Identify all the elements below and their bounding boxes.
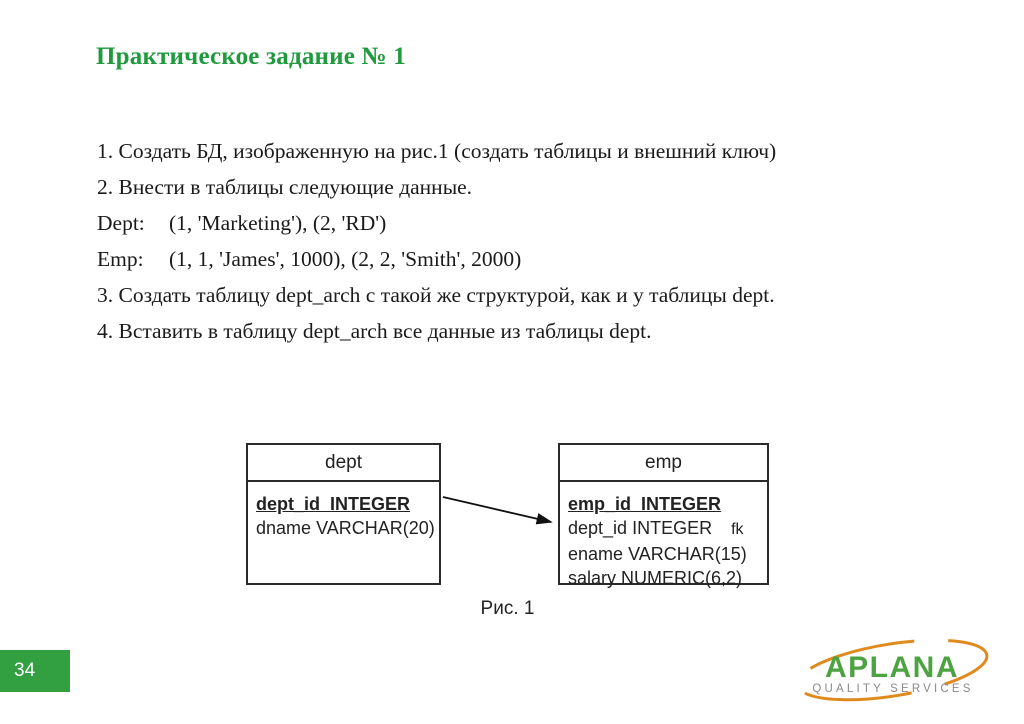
task-line-emp-data: Emp:(1, 1, 'James', 1000), (2, 2, 'Smith… <box>97 241 957 277</box>
er-field-emp-dept-id-fk-tag: fk <box>731 518 743 542</box>
task-1-text: 1. Создать БД, изображенную на рис.1 (со… <box>97 139 776 163</box>
emp-data-values: (1, 1, 'James', 1000), (2, 2, 'Smith', 2… <box>169 247 521 271</box>
er-field-dept-dname-name: dname <box>256 518 311 538</box>
figure-caption: Рис. 1 <box>246 598 769 620</box>
task-4-text: 4. Вставить в таблицу dept_arch все данн… <box>97 319 652 343</box>
task-list: 1. Создать БД, изображенную на рис.1 (со… <box>97 133 957 349</box>
task-line-1: 1. Создать БД, изображенную на рис.1 (со… <box>97 133 957 169</box>
er-field-emp-dept-id-type: INTEGER <box>632 518 712 538</box>
er-field-emp-salary-name: salary <box>568 568 616 588</box>
logo-wordmark: APLANA <box>825 651 959 684</box>
aplana-logo-graphic: APLANA QUALITY SERVICES <box>790 636 995 708</box>
er-field-emp-ename: ename VARCHAR(15) <box>568 542 767 566</box>
emp-data-label: Emp: <box>97 241 169 277</box>
er-field-emp-emp-id-name: emp_id <box>568 494 631 514</box>
er-field-emp-salary: salary NUMERIC(6,2) <box>568 566 767 590</box>
er-table-dept: dept dept_id INTEGER dname VARCHAR(20) <box>246 443 441 585</box>
page-number-badge: 34 <box>0 650 70 692</box>
er-field-dept-dname: dname VARCHAR(20) <box>256 516 439 540</box>
er-field-emp-ename-name: ename <box>568 544 623 564</box>
er-field-emp-dept-id-name: dept_id <box>568 518 627 538</box>
er-field-dept-dname-type: VARCHAR(20) <box>316 518 435 538</box>
er-table-emp-fields: emp_id INTEGER dept_id INTEGER fk ename … <box>560 482 767 590</box>
task-line-dept-data: Dept:(1, 'Marketing'), (2, 'RD') <box>97 205 957 241</box>
er-field-emp-emp-id: emp_id INTEGER <box>568 492 767 516</box>
er-field-emp-emp-id-type: INTEGER <box>641 494 721 514</box>
er-table-dept-fields: dept_id INTEGER dname VARCHAR(20) <box>248 482 439 540</box>
task-line-3: 3. Создать таблицу dept_arch с такой же … <box>97 277 957 313</box>
page-title: Практическое задание № 1 <box>96 42 406 72</box>
er-field-emp-dept-id: dept_id INTEGER fk <box>568 516 767 542</box>
er-table-emp-title: emp <box>560 445 767 482</box>
dept-data-label: Dept: <box>97 205 169 241</box>
task-3-text: 3. Создать таблицу dept_arch с такой же … <box>97 283 775 307</box>
task-2-text: 2. Внести в таблицы следующие данные. <box>97 175 472 199</box>
er-field-dept-dept-id-name: dept_id <box>256 494 320 514</box>
er-field-dept-dept-id-type: INTEGER <box>330 494 410 514</box>
er-field-emp-salary-type: NUMERIC(6,2) <box>621 568 742 588</box>
task-line-2: 2. Внести в таблицы следующие данные. <box>97 169 957 205</box>
er-relation-dept-to-emp <box>443 497 551 522</box>
aplana-logo: APLANA QUALITY SERVICES <box>790 636 995 708</box>
er-field-emp-ename-type: VARCHAR(15) <box>628 544 747 564</box>
logo-tagline: QUALITY SERVICES <box>812 683 973 695</box>
er-table-emp: emp emp_id INTEGER dept_id INTEGER fk en… <box>558 443 769 585</box>
er-field-dept-dept-id: dept_id INTEGER <box>256 492 439 516</box>
task-line-4: 4. Вставить в таблицу dept_arch все данн… <box>97 313 957 349</box>
er-table-dept-title: dept <box>248 445 439 482</box>
dept-data-values: (1, 'Marketing'), (2, 'RD') <box>169 211 386 235</box>
